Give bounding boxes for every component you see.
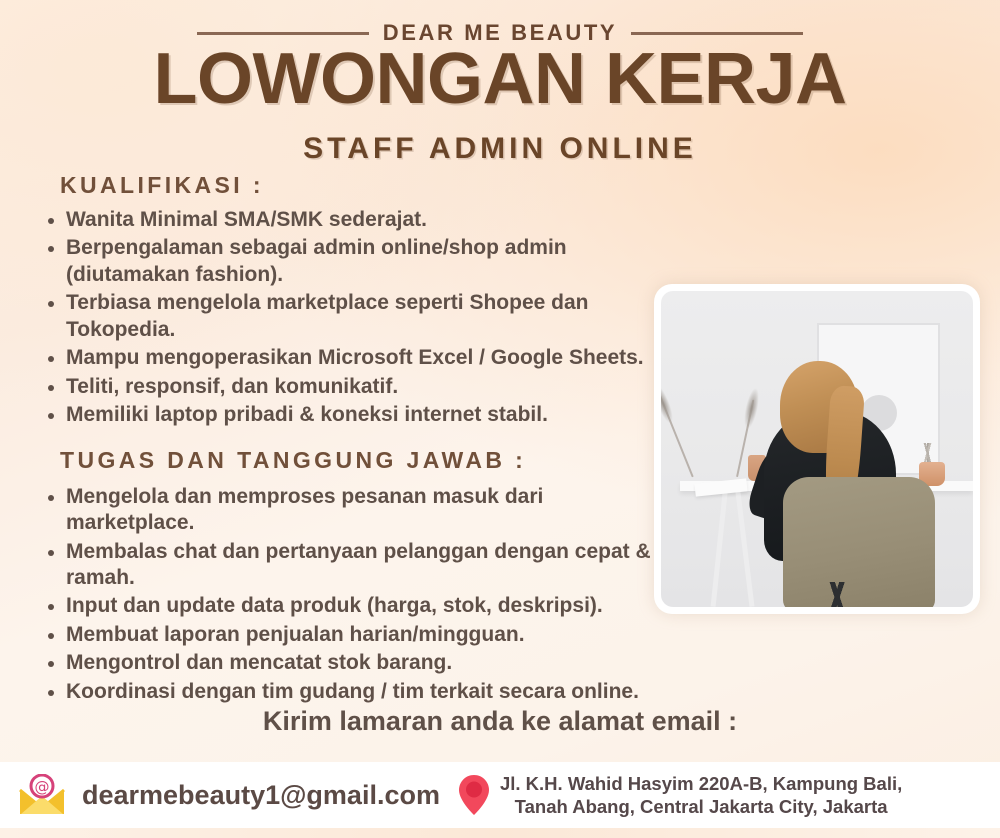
location-pin-icon	[458, 774, 490, 816]
responsibilities-heading: TUGAS DAN TANGGUNG JAWAB :	[60, 447, 658, 474]
qualifications-list: Wanita Minimal SMA/SMK sederajat. Berpen…	[38, 207, 658, 429]
footer-bar: @ dearmebeauty1@gmail.com Jl. K.H. Wahid…	[0, 762, 1000, 828]
address-text: Jl. K.H. Wahid Hasyim 220A-B, Kampung Ba…	[500, 772, 902, 819]
qualifications-heading: KUALIFIKASI :	[60, 172, 658, 199]
pen-cup-contents	[914, 443, 942, 463]
address-line-1: Jl. K.H. Wahid Hasyim 220A-B, Kampung Ba…	[500, 773, 902, 794]
photo-frame	[654, 284, 980, 614]
list-item: Mengontrol dan mencatat stok barang.	[38, 650, 658, 676]
list-item: Teliti, responsif, dan komunikatif.	[38, 374, 658, 400]
list-item: Membuat laporan penjualan harian/minggua…	[38, 622, 658, 648]
pampas-head	[661, 382, 677, 425]
list-item: Berpengalaman sebagai admin online/shop …	[38, 235, 658, 288]
desk-leg	[711, 484, 729, 607]
bottom-strip	[0, 828, 1000, 838]
list-item: Memiliki laptop pribadi & koneksi intern…	[38, 402, 658, 428]
woman-working-at-desk-photo	[661, 291, 973, 607]
content-column: KUALIFIKASI : Wanita Minimal SMA/SMK sed…	[38, 172, 658, 707]
pampas-head	[741, 387, 761, 431]
job-position-title: STAFF ADMIN ONLINE	[0, 132, 1000, 166]
responsibilities-list: Mengelola dan memproses pesanan masuk da…	[38, 484, 658, 706]
list-item: Koordinasi dengan tim gudang / tim terka…	[38, 679, 658, 705]
job-poster: DEAR ME BEAUTY LOWONGAN KERJA STAFF ADMI…	[0, 0, 1000, 838]
pampas-stem	[661, 395, 694, 478]
svg-text:@: @	[35, 778, 50, 796]
footer-address-group[interactable]: Jl. K.H. Wahid Hasyim 220A-B, Kampung Ba…	[458, 772, 902, 819]
envelope-at-icon: @	[16, 774, 68, 816]
list-item: Mampu mengoperasikan Microsoft Excel / G…	[38, 345, 658, 371]
address-line-2: Tanah Abang, Central Jakarta City, Jakar…	[515, 796, 888, 817]
list-item: Wanita Minimal SMA/SMK sederajat.	[38, 207, 658, 233]
brand-rule-right	[631, 32, 803, 35]
page-title: LOWONGAN KERJA	[0, 43, 1000, 115]
list-item: Terbiasa mengelola marketplace seperti S…	[38, 290, 658, 343]
list-item: Input dan update data produk (harga, sto…	[38, 593, 658, 619]
list-item: Mengelola dan memproses pesanan masuk da…	[38, 484, 658, 537]
brand-rule-left	[197, 32, 369, 35]
cta-text: Kirim lamaran anda ke alamat email :	[0, 706, 1000, 737]
list-item: Membalas chat dan pertanyaan pelanggan d…	[38, 539, 658, 592]
email-address[interactable]: dearmebeauty1@gmail.com	[82, 780, 440, 811]
chair-legs	[798, 582, 878, 607]
footer-email-group[interactable]: @ dearmebeauty1@gmail.com	[16, 774, 440, 816]
